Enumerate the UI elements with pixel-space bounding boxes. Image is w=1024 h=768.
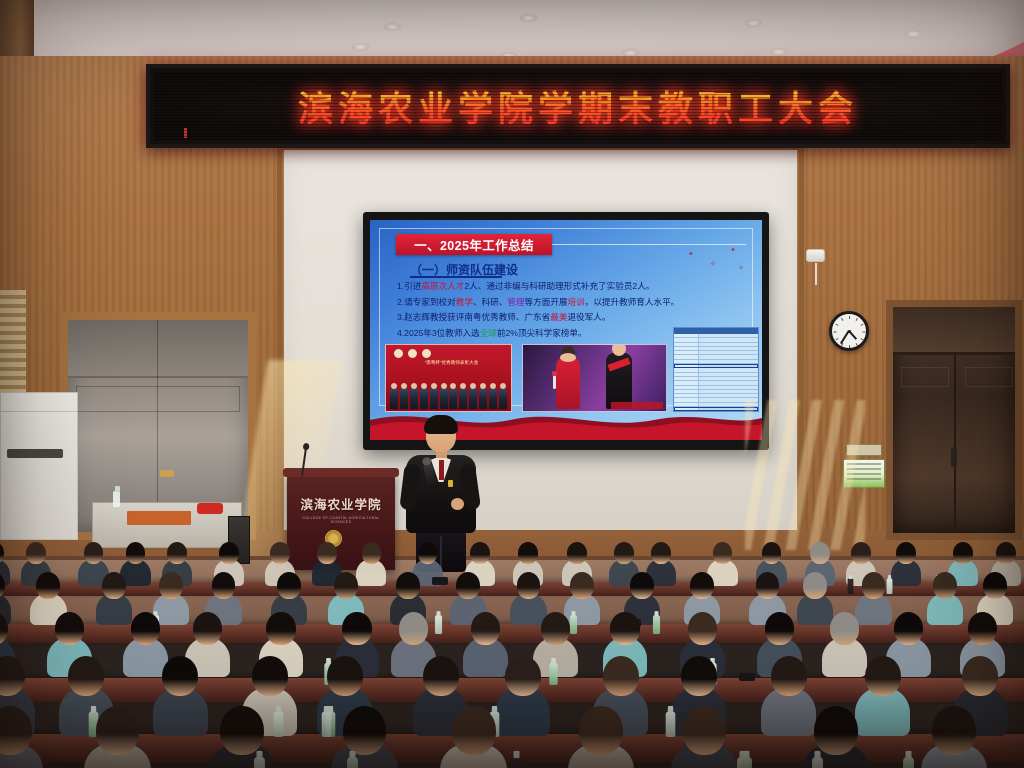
slide-ranking-table (673, 327, 759, 412)
presenter-badge (448, 480, 453, 487)
audience-member-head (862, 572, 886, 599)
wall-clock (829, 311, 869, 351)
clock-tick (863, 332, 866, 333)
audience-member-head (159, 572, 183, 599)
audience-member-head (131, 612, 160, 645)
table-cell-name (674, 351, 699, 354)
audience-member-head (220, 706, 264, 755)
table-cell-name (674, 390, 699, 393)
wall-speaker-icon (806, 249, 825, 262)
led-banner-text: 滨海农业学院学期末教职工大会 (298, 81, 858, 132)
audience-member-head (810, 542, 830, 564)
audience-member-head (362, 542, 382, 564)
cabinet-label-slot (7, 449, 63, 458)
table-cell-name (674, 364, 699, 367)
right-door-handle[interactable] (951, 447, 957, 467)
audience-member-head (343, 706, 387, 755)
table-cell-affiliation (699, 381, 758, 384)
water-bottle (812, 757, 823, 768)
table-cell-name (674, 334, 699, 337)
slide-bullet-text: ，以提升教师育人水平。 (585, 297, 680, 307)
cabinet-seam (1, 411, 77, 412)
water-bottle (742, 757, 753, 768)
audience-member-head (865, 656, 901, 696)
audience-member-head (830, 612, 859, 645)
clock-center-pin (848, 330, 851, 333)
table-cell-affiliation (699, 351, 758, 354)
table-cell-name (674, 377, 699, 380)
water-bottle (347, 757, 358, 768)
water-bottle (549, 662, 557, 684)
projection-screen: 一、2025年工作总结 （一）师资队伍建设 1.引进高层次人才2人、通过非编与科… (363, 212, 769, 450)
lectern-name-cn: 滨海农业学院 (299, 494, 383, 513)
table-cell-affiliation (699, 398, 758, 401)
right-wood-door[interactable] (886, 300, 1022, 540)
right-door-panel (965, 367, 1013, 387)
downlight (905, 30, 922, 38)
audience-member-head (713, 542, 733, 564)
audience-member-head (579, 706, 623, 755)
table-cell-affiliation (699, 360, 758, 363)
table-cell-affiliation (699, 355, 758, 358)
water-bottle (511, 757, 522, 768)
smartphone-on-desk (739, 673, 755, 681)
audience-member-head (614, 542, 634, 564)
slide-bullet-item: 3.赵志辉教授获评南粤优秀教师、广东省最美退役军人。 (397, 313, 748, 322)
audience-area (0, 520, 1024, 768)
slide-bullet-text: 全球 (480, 328, 497, 338)
audience-member-head (84, 542, 104, 564)
clock-tick (856, 318, 858, 321)
clock-tick (841, 318, 843, 321)
audience-member-head (342, 612, 371, 645)
audience-member-head (252, 656, 288, 696)
audience-member-head (932, 706, 976, 755)
audience-member-head (418, 542, 438, 564)
slide-bullet-text: 2025年3位教师入选 (404, 328, 479, 338)
audience-member-head (756, 572, 780, 599)
audience-member-head (517, 572, 541, 599)
photo-honoree-figure (606, 353, 632, 409)
audience-member-head (765, 612, 794, 645)
clock-tick (856, 343, 858, 346)
water-bottle (274, 711, 284, 737)
table-cell-name (674, 394, 699, 397)
audience-member-head (452, 706, 496, 755)
award-logo-group (394, 349, 431, 358)
audience-member-head (126, 542, 146, 564)
table-cell-name (674, 368, 699, 371)
led-banner-pixel-artifact (184, 128, 187, 138)
audience-member-head (814, 706, 858, 755)
clock-tick (835, 324, 838, 326)
table-cell-name (674, 386, 699, 389)
audience-member-head (953, 542, 973, 564)
led-banner-screen: 滨海农业学院学期末教职工大会 (154, 72, 1002, 140)
table-cell-name (674, 355, 699, 358)
slide-bullet-item: 1.引进高层次人才2人、通过非编与科研助理形式补充了实验员2人。 (397, 282, 748, 291)
left-door-panel (76, 386, 240, 412)
slide-bullet-text: 等方面开展 (525, 297, 568, 307)
slide-bullet-text: 培训 (568, 297, 585, 307)
audience-member-head (851, 542, 871, 564)
audience-member-head (270, 542, 290, 564)
audience-member-head (518, 542, 538, 564)
slide-bullet-text: 引进 (404, 281, 421, 291)
table-cell-affiliation (699, 334, 758, 337)
audience-member-head (162, 656, 198, 696)
audience-member-head (212, 572, 236, 599)
audience-member-head (570, 572, 594, 599)
wall-plaque (846, 444, 882, 456)
audience-member-head (968, 612, 997, 645)
audience-member-head (26, 542, 46, 564)
downlight (352, 43, 369, 51)
audience-member-head (603, 656, 639, 696)
audience-member-head (688, 612, 717, 645)
audience-member-head (983, 572, 1007, 599)
slide-bullet-text: 赵志辉教授获评南粤优秀教师、广东省 (404, 312, 550, 322)
audience-member-head (630, 572, 654, 599)
slide-bullet-text: 请专家到校对 (404, 297, 456, 307)
table-cell-name (674, 360, 699, 363)
clock-tick (861, 338, 864, 340)
audience-member-head (471, 612, 500, 645)
downlight (520, 14, 537, 22)
slide-bullet-text: 、科研、 (473, 297, 507, 307)
downlight (384, 23, 401, 31)
presentation-slide: 一、2025年工作总结 （一）师资队伍建设 1.引进高层次人才2人、通过非编与科… (370, 220, 762, 440)
audience-member-head (334, 572, 358, 599)
table-cell-affiliation (699, 338, 758, 341)
water-bottle (570, 615, 577, 634)
audience-member-head (317, 542, 337, 564)
slide-bullet-text: 2人、通过非编与科研助理形式补充了实验员2人。 (464, 281, 654, 291)
table-cell-affiliation (699, 368, 758, 371)
audience-member-head (68, 656, 104, 696)
audience-member-head (896, 542, 916, 564)
slide-section-heading: 一、2025年工作总结 (396, 234, 552, 255)
audience-member-head (327, 656, 363, 696)
bird-decoration: ✧ (738, 264, 744, 272)
table-cell-name (674, 381, 699, 384)
audience-member-head (541, 612, 570, 645)
audience-member-head (610, 612, 639, 645)
audience-member-head (962, 656, 998, 696)
table-cell-affiliation (699, 394, 758, 397)
award-photo-caption: “南粤杯”优秀教师表彰大会 (400, 359, 503, 367)
clock-tick (849, 316, 850, 319)
water-bottle (665, 711, 675, 737)
presenter-tie (439, 460, 444, 480)
presenter-hand (451, 498, 464, 510)
audience-member-head (36, 572, 60, 599)
clock-tick (835, 338, 838, 340)
water-bottle (113, 491, 120, 507)
table-cell-affiliation (699, 347, 758, 350)
smartphone-on-desk (432, 577, 448, 585)
table-cell-name (674, 338, 699, 341)
audience-member-head (219, 542, 239, 564)
table-cell-affiliation (699, 386, 758, 389)
audience-member-head (55, 612, 84, 645)
fire-safety-sign (843, 459, 885, 488)
bird-decoration: ✧ (710, 260, 716, 268)
photo-honoree-sash (607, 357, 630, 371)
water-bottle (322, 711, 332, 737)
slide-subheading-underline (410, 276, 502, 278)
downlight (745, 19, 762, 27)
slide-bullet-text: 高层次人才 (421, 281, 464, 291)
audience-member-head (396, 572, 420, 599)
table-cell-name (674, 398, 699, 401)
audience-member-head (423, 656, 459, 696)
right-door-split (954, 355, 956, 533)
audience-member-head (762, 542, 782, 564)
slide-bullet-text: 管理 (507, 297, 524, 307)
audience-member-head (933, 572, 957, 599)
slide-bullet-text: 教学 (456, 297, 473, 307)
audience-member-head (96, 706, 140, 755)
table-cell-affiliation (699, 373, 758, 376)
table-cell-affiliation (699, 377, 758, 380)
audience-member-head (266, 612, 295, 645)
audience-member-head (567, 542, 587, 564)
red-object-on-table (197, 503, 223, 514)
audience-member-head (894, 612, 923, 645)
photo-microphone (553, 375, 556, 389)
photo-award-ceremony: “南粤杯”优秀教师表彰大会 (385, 344, 512, 412)
table-cell-affiliation (699, 390, 758, 393)
photo-host-figure (556, 357, 580, 409)
table-cell-name (674, 347, 699, 350)
bird-decoration: ✦ (688, 250, 694, 258)
presenter-hair (424, 415, 458, 434)
clock-tick (861, 324, 864, 326)
audience-member-head (803, 572, 827, 599)
table-cell-name (674, 373, 699, 376)
audience-member-head (505, 656, 541, 696)
clock-tick (834, 332, 837, 333)
audience-member-head (996, 542, 1016, 564)
auditorium-scene: 滨海农业学院学期末教职工大会 一、2025年工作总结 （一）师资队伍建设 1.引… (0, 0, 1024, 768)
slide-bullet-text: 退役军人。 (567, 312, 610, 322)
audience-member-head (470, 542, 490, 564)
slide-bullet-text: 前2%顶尖科学家榜单。 (497, 328, 587, 338)
right-door-panel (901, 367, 949, 387)
bird-decoration: ✦ (730, 246, 736, 254)
right-door-transom (893, 307, 1015, 355)
audience-member-head (771, 656, 807, 696)
clock-tick (849, 345, 850, 348)
water-bottle (848, 579, 854, 595)
audience-member-head (683, 706, 727, 755)
left-door-handle[interactable] (160, 470, 174, 477)
audience-member-head (167, 542, 187, 564)
clock-minute-hand (840, 331, 849, 345)
downlight (770, 48, 787, 56)
audience-member-head (651, 542, 671, 564)
led-banner: 滨海农业学院学期末教职工大会 (146, 64, 1010, 148)
slide-heading-rule (552, 244, 746, 245)
water-bottle (653, 615, 660, 634)
slide-bullet-text: 最美 (550, 312, 567, 322)
audience-member-head (681, 656, 717, 696)
audience-member-head (277, 572, 301, 599)
window-blinds (0, 290, 26, 405)
audience-member-head (399, 612, 428, 645)
table-cell-name (674, 343, 699, 346)
slide-section-heading-text: 一、2025年工作总结 (414, 235, 534, 254)
water-bottle (254, 757, 265, 768)
photo-stage-interview (522, 344, 667, 412)
water-bottle (903, 757, 914, 768)
water-bottle (887, 579, 893, 595)
side-cabinet (0, 392, 78, 540)
table-cell-affiliation (699, 364, 758, 367)
table-cell-affiliation (699, 343, 758, 346)
audience-member-head (102, 572, 126, 599)
audience-member-head (456, 572, 480, 599)
audience-member-head (193, 612, 222, 645)
water-bottle (435, 615, 442, 634)
audience-member-head (690, 572, 714, 599)
slide-bullet-item: 2.请专家到校对教学、科研、管理等方面开展培训，以提升教师育人水平。 (397, 298, 748, 307)
